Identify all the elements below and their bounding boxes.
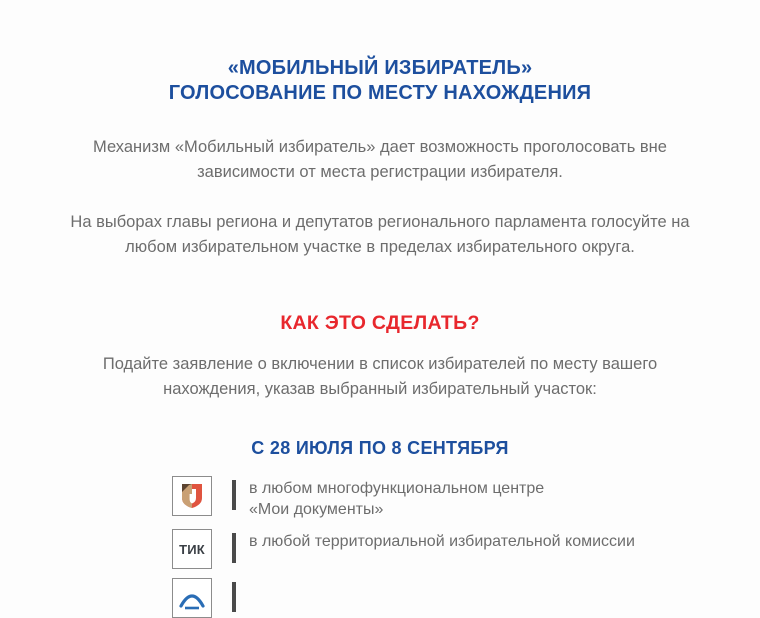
channel-line-2: «Мои документы» bbox=[249, 499, 544, 520]
gosuslugi-icon-box bbox=[172, 578, 212, 618]
intro-paragraph-1: Механизм «Мобильный избиратель» дает воз… bbox=[60, 135, 700, 185]
list-item: ТИК в любой территориальной избирательно… bbox=[172, 529, 720, 569]
list-item: в любом многофункциональном центре «Мои … bbox=[172, 476, 720, 520]
intro-paragraph-2: На выборах главы региона и депутатов рег… bbox=[60, 210, 700, 260]
list-item bbox=[172, 578, 720, 618]
title-line-1: «МОБИЛЬНЫЙ ИЗБИРАТЕЛЬ» bbox=[40, 56, 720, 81]
title-line-2: ГОЛОСОВАНИЕ ПО МЕСТУ НАХОЖДЕНИЯ bbox=[40, 81, 720, 106]
tik-badge-icon: ТИК bbox=[179, 542, 205, 557]
poster-canvas: «МОБИЛЬНЫЙ ИЗБИРАТЕЛЬ» ГОЛОСОВАНИЕ ПО МЕ… bbox=[0, 0, 760, 570]
channel-line-1: в любом многофункциональном центре bbox=[249, 480, 544, 497]
intro-section: Механизм «Мобильный избиратель» дает воз… bbox=[40, 135, 720, 260]
row-divider-bar bbox=[232, 582, 236, 612]
channel-line-1: в любой территориальной избирательной ко… bbox=[249, 533, 635, 550]
row-divider-bar bbox=[232, 480, 236, 510]
period-heading: С 28 ИЮЛЯ ПО 8 СЕНТЯБРЯ bbox=[40, 438, 720, 459]
channel-text: в любом многофункциональном центре «Мои … bbox=[249, 476, 544, 520]
how-to-instruction: Подайте заявление о включении в список и… bbox=[60, 352, 700, 402]
row-divider-bar bbox=[232, 533, 236, 563]
tik-icon-box: ТИК bbox=[172, 529, 212, 569]
how-to-heading: КАК ЭТО СДЕЛАТЬ? bbox=[40, 312, 720, 335]
gosuslugi-arc-icon bbox=[178, 586, 206, 610]
channel-list: в любом многофункциональном центре «Мои … bbox=[40, 476, 720, 618]
mfc-logo-icon bbox=[180, 483, 204, 509]
page-title: «МОБИЛЬНЫЙ ИЗБИРАТЕЛЬ» ГОЛОСОВАНИЕ ПО МЕ… bbox=[40, 0, 720, 106]
channel-text: в любой территориальной избирательной ко… bbox=[249, 529, 635, 552]
mfc-icon-box bbox=[172, 476, 212, 516]
